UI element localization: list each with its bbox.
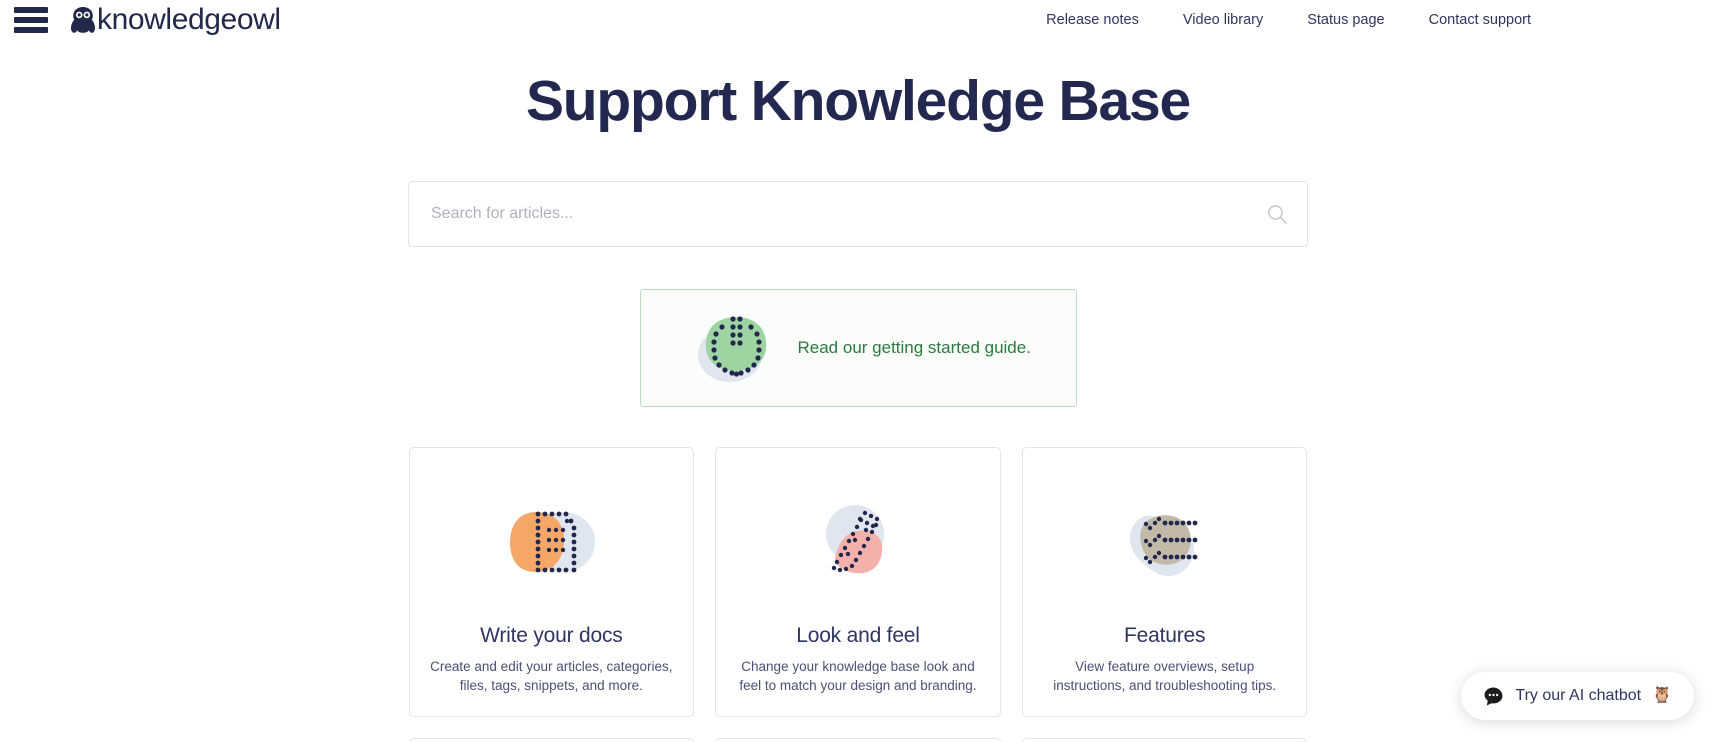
banner-text: Read our getting started guide.	[798, 338, 1031, 358]
page-title: Support Knowledge Base	[0, 70, 1716, 133]
hamburger-menu-icon[interactable]	[14, 7, 48, 33]
search-section	[408, 181, 1308, 247]
card-grid-row-2	[409, 738, 1308, 742]
card-description: Change your knowledge base look and feel…	[734, 657, 982, 696]
nav-link-contact-support[interactable]: Contact support	[1429, 12, 1531, 28]
card-placeholder[interactable]	[1022, 738, 1308, 742]
hamburger-bar	[14, 7, 48, 13]
card-write-your-docs[interactable]: Write your docs Create and edit your art…	[409, 447, 695, 717]
nav-link-status-page[interactable]: Status page	[1307, 12, 1384, 28]
nav-link-video-library[interactable]: Video library	[1183, 12, 1263, 28]
nav-link-release-notes[interactable]: Release notes	[1046, 12, 1139, 28]
owl-logo-icon	[70, 6, 96, 34]
card-look-and-feel[interactable]: Look and feel Change your knowledge base…	[715, 447, 1001, 717]
card-title: Features	[1124, 624, 1205, 648]
card-features[interactable]: Features View feature overviews, setup i…	[1022, 447, 1308, 717]
pencil-dotted-icon	[803, 494, 913, 594]
search-box[interactable]	[408, 181, 1308, 247]
getting-started-banner[interactable]: Read our getting started guide.	[640, 289, 1077, 407]
card-placeholder[interactable]	[409, 738, 695, 742]
ai-chatbot-button[interactable]: Try our AI chatbot 🦉	[1461, 672, 1694, 720]
getting-started-banner-wrap: Read our getting started guide.	[0, 289, 1716, 407]
site-header: knowledgeowl Release notes Video library…	[0, 0, 1716, 40]
card-description: View feature overviews, setup instructio…	[1041, 657, 1289, 696]
card-title: Write your docs	[480, 624, 623, 648]
hamburger-bar	[14, 17, 48, 23]
card-description: Create and edit your articles, categorie…	[428, 657, 676, 696]
search-input[interactable]	[409, 182, 1307, 246]
hamburger-bar	[14, 27, 48, 33]
brand-name: knowledgeowl	[97, 5, 281, 35]
card-grid: Write your docs Create and edit your art…	[409, 447, 1308, 717]
chatbot-label: Try our AI chatbot	[1515, 687, 1641, 705]
owl-emoji-icon: 🦉	[1652, 688, 1672, 704]
search-icon[interactable]	[1265, 202, 1289, 226]
chat-bubble-icon	[1483, 686, 1504, 707]
card-placeholder[interactable]	[715, 738, 1001, 742]
power-button-dotted-icon	[688, 303, 784, 393]
checklist-dotted-icon	[1110, 494, 1220, 594]
brand-logo[interactable]: knowledgeowl	[70, 5, 281, 35]
top-navigation: Release notes Video library Status page …	[1046, 12, 1696, 28]
card-title: Look and feel	[796, 624, 920, 648]
main-content: Support Knowledge Base	[0, 40, 1716, 742]
document-dotted-icon	[496, 494, 606, 594]
